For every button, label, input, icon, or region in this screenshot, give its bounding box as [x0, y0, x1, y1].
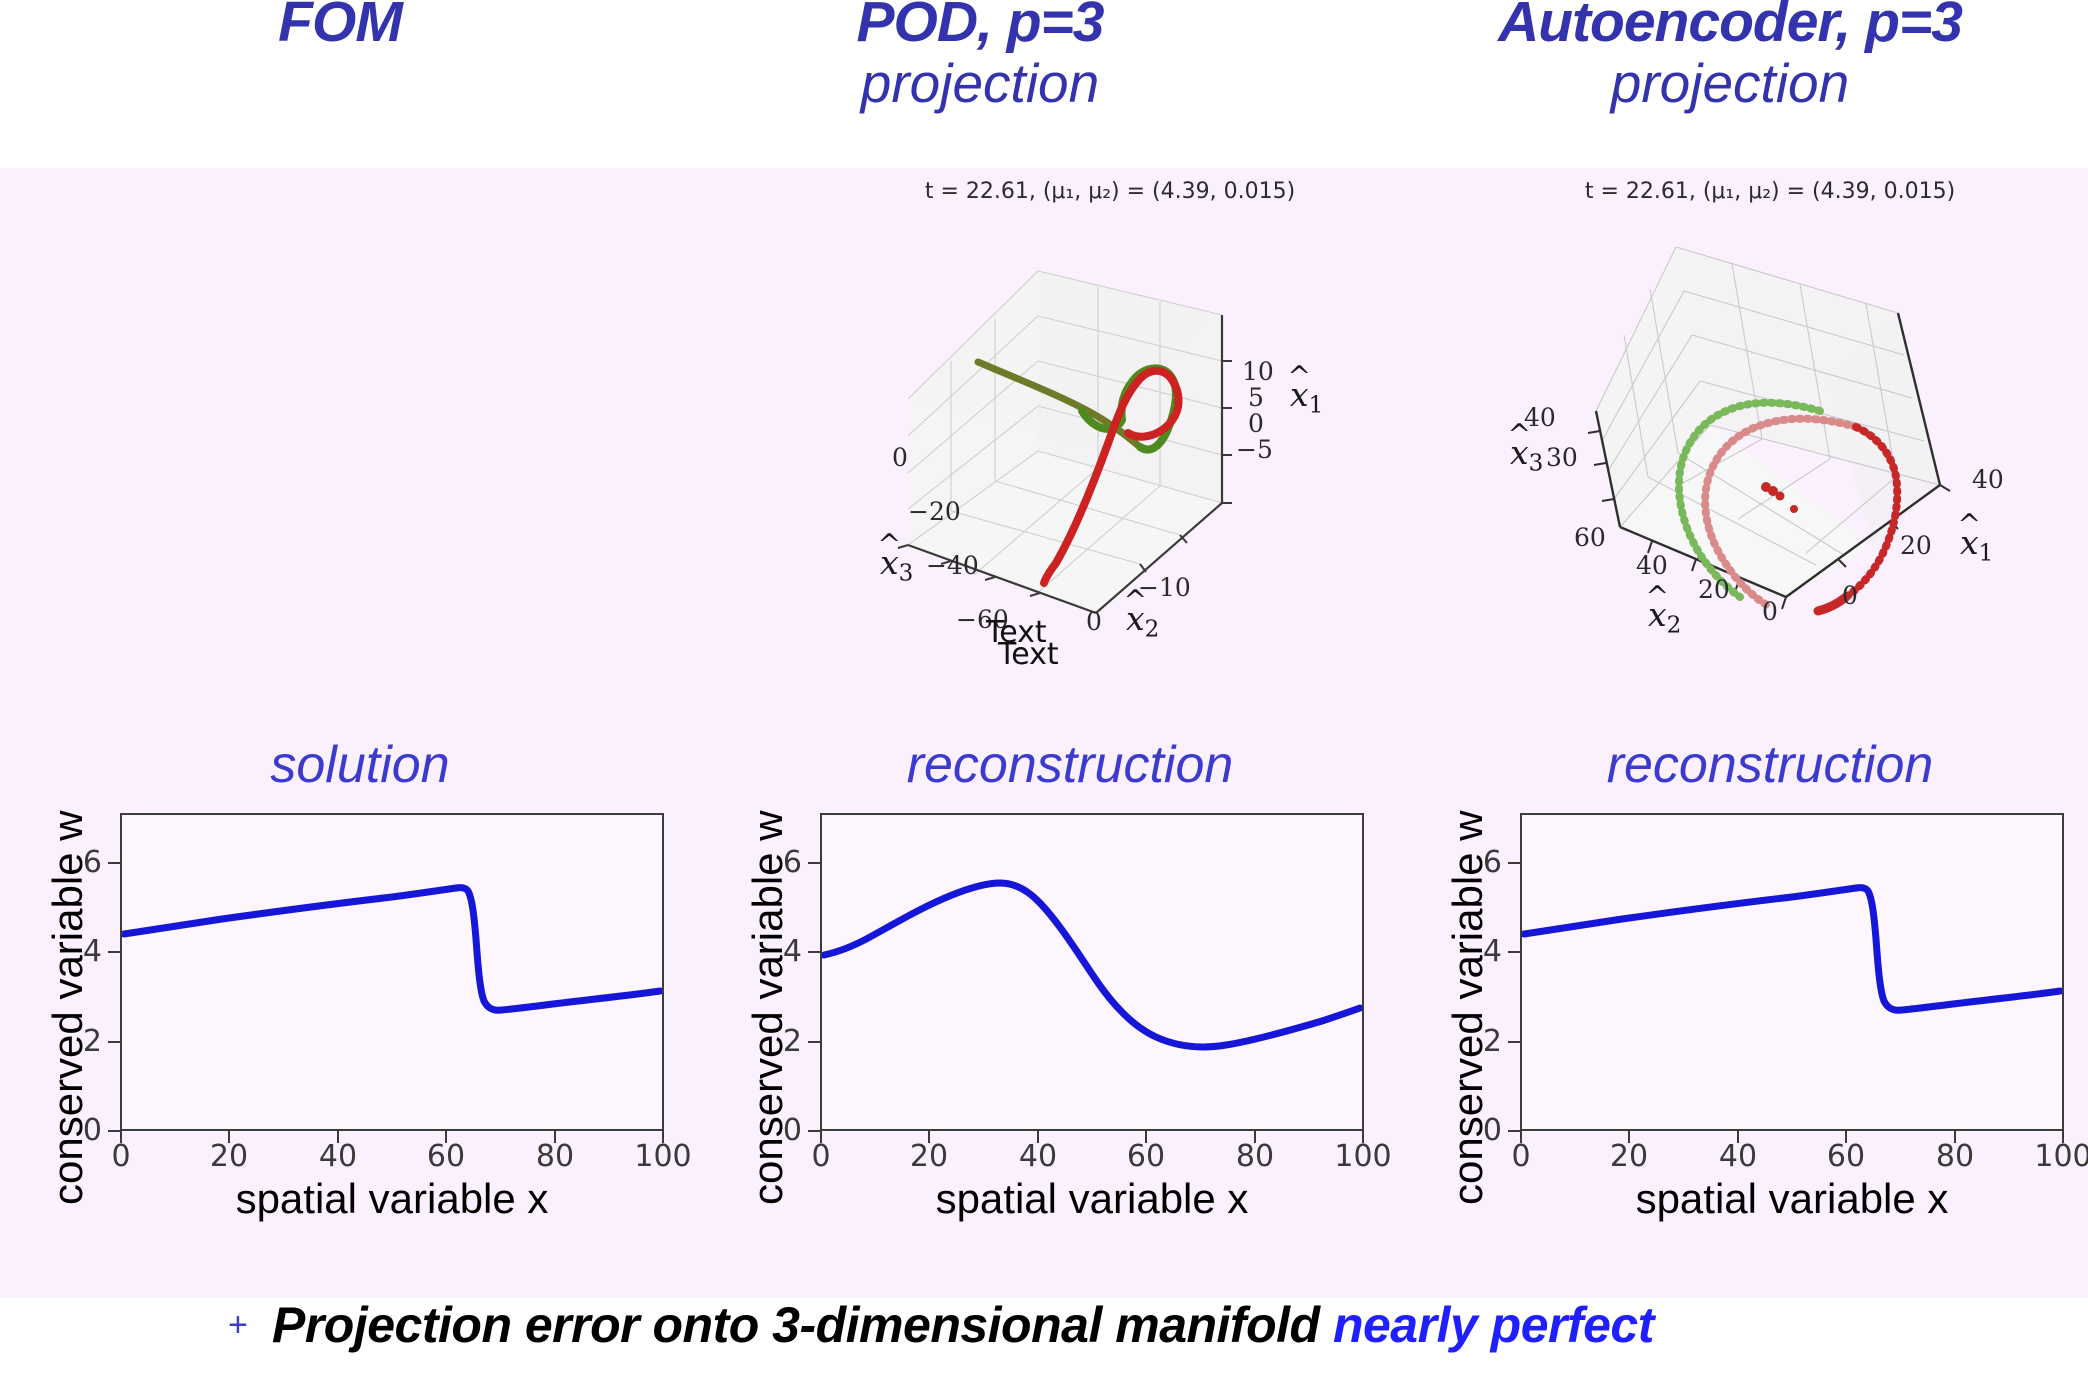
fom-plot-title: solution — [80, 735, 640, 795]
ae-xtick-3: 60 — [1815, 1139, 1877, 1174]
fom-xtickmark-1 — [228, 1131, 230, 1143]
pod-axis-label-z: x^3 — [880, 543, 913, 586]
ae-xtick-5: 100 — [2032, 1139, 2088, 1174]
ae-xtickmark-1 — [1628, 1131, 1630, 1143]
fom-xtickmark-0 — [120, 1131, 122, 1143]
autoencoder-plot-title: t = 22.61, (μ₁, μ₂) = (4.39, 0.015) — [1500, 179, 2040, 204]
ae-axis-label-x: x^2 — [1648, 595, 1681, 638]
pod-xtick-3: 60 — [1115, 1139, 1177, 1174]
ae-xtick-0: 0 — [1490, 1139, 1552, 1174]
pod-ytick-2: 4 — [740, 934, 802, 969]
pod-xtickmark-2 — [1037, 1131, 1039, 1143]
ae-xtick-1: 20 — [1598, 1139, 1660, 1174]
autoencoder-latent-space-plot: t = 22.61, (μ₁, μ₂) = (4.39, 0.015) — [1500, 175, 2060, 715]
fom-ytick-1: 2 — [40, 1024, 102, 1059]
pod-recon-title: reconstruction — [780, 735, 1360, 795]
pod-axis-label-x: x^2 — [1126, 599, 1159, 642]
ae-xlabel: spatial variable x — [1520, 1175, 2064, 1223]
fom-ytickmark-3 — [108, 862, 120, 864]
fom-ytickmark-1 — [108, 1041, 120, 1043]
ae-ytickmark-0 — [1508, 1130, 1520, 1132]
ae-recon-title: reconstruction — [1480, 735, 2060, 795]
pod-axis-label-y: x^1 — [1290, 375, 1323, 418]
pod-xtick-2: 40 — [1007, 1139, 1069, 1174]
ae-axes-box — [1520, 813, 2064, 1131]
pod-xtickmark-3 — [1145, 1131, 1147, 1143]
pod-ytickmark-3 — [808, 862, 820, 864]
fom-ytick-2: 4 — [40, 934, 102, 969]
fom-ytickmark-2 — [108, 951, 120, 953]
fom-ytickmark-0 — [108, 1130, 120, 1132]
pod-plot-title: t = 22.61, (μ₁, μ₂) = (4.39, 0.015) — [850, 179, 1370, 204]
column-header-fom-title: FOM — [278, 0, 402, 54]
pod-xtickmark-5 — [1362, 1131, 1364, 1143]
ae-tick-x-3: 0 — [1762, 597, 1778, 626]
pod-tick-z-0: 0 — [892, 443, 908, 472]
pod-tick-y-3: −5 — [1236, 435, 1273, 464]
ae-ytick-3: 6 — [1440, 845, 1502, 880]
autoencoder-reconstruction-plot: reconstruction conserved variable w 0 2 … — [1420, 735, 2080, 1235]
ae-ytickmark-2 — [1508, 951, 1520, 953]
footer-caption-plain: Projection error onto 3-dimensional mani… — [272, 1297, 1333, 1353]
ae-xtick-2: 40 — [1707, 1139, 1769, 1174]
footer-caption-highlight: nearly perfect — [1333, 1297, 1654, 1353]
ae-tick-x-0: 60 — [1574, 523, 1606, 552]
ae-curve — [1522, 815, 2062, 1129]
column-header-autoencoder-title: Autoencoder, p=3 — [1498, 0, 1962, 54]
pod-xtickmark-1 — [928, 1131, 930, 1143]
column-header-pod-subtitle: projection — [700, 52, 1260, 114]
pod-xtick-4: 80 — [1224, 1139, 1286, 1174]
column-header-autoencoder-subtitle: projection — [1380, 52, 2080, 114]
ae-tick-y-0: 40 — [1972, 465, 2004, 494]
fom-xtickmark-4 — [554, 1131, 556, 1143]
pod-tick-y-0: 10 — [1242, 357, 1274, 386]
fom-xtick-3: 60 — [415, 1139, 477, 1174]
ae-tick-x-2: 20 — [1698, 575, 1730, 604]
ae-xtickmark-4 — [1954, 1131, 1956, 1143]
ae-xtickmark-2 — [1737, 1131, 1739, 1143]
pod-xtickmark-0 — [820, 1131, 822, 1143]
ae-xtick-4: 80 — [1924, 1139, 1986, 1174]
fom-xtickmark-3 — [445, 1131, 447, 1143]
ae-ytick-1: 2 — [1440, 1024, 1502, 1059]
ae-xtickmark-3 — [1845, 1131, 1847, 1143]
pod-tick-y-2: 0 — [1248, 409, 1264, 438]
ae-xtickmark-0 — [1520, 1131, 1522, 1143]
pod-xtick-0: 0 — [790, 1139, 852, 1174]
pod-ytickmark-1 — [808, 1041, 820, 1043]
fom-axes-box — [120, 813, 664, 1131]
pod-tick-y-1: 5 — [1248, 383, 1264, 412]
pod-xtick-5: 100 — [1332, 1139, 1394, 1174]
ae-tick-x-1: 40 — [1636, 551, 1668, 580]
placeholder-text-2: Text — [998, 637, 1059, 672]
column-header-fom: FOM — [60, 0, 620, 52]
pod-curve — [822, 815, 1362, 1129]
pod-ytickmark-0 — [808, 1130, 820, 1132]
pod-xlabel: spatial variable x — [820, 1175, 1364, 1223]
fom-xtick-1: 20 — [198, 1139, 260, 1174]
column-header-pod: POD, p=3 projection — [700, 0, 1260, 114]
ae-ytickmark-3 — [1508, 862, 1520, 864]
pod-tick-z-2: −40 — [926, 551, 979, 580]
fom-xtick-2: 40 — [307, 1139, 369, 1174]
pod-ytickmark-2 — [808, 951, 820, 953]
pod-xtick-1: 20 — [898, 1139, 960, 1174]
footer-caption: Projection error onto 3-dimensional mani… — [272, 1296, 1654, 1354]
fom-xtickmark-2 — [337, 1131, 339, 1143]
fom-xtick-4: 80 — [524, 1139, 586, 1174]
ae-ytickmark-1 — [1508, 1041, 1520, 1043]
header-band: FOM POD, p=3 projection Autoencoder, p=3… — [0, 0, 2088, 168]
pod-3d-axes — [850, 215, 1370, 675]
ae-tick-y-2: 0 — [1842, 581, 1858, 610]
bullet-plus-icon: + — [228, 1306, 248, 1345]
column-header-pod-title: POD, p=3 — [857, 0, 1104, 54]
ae-tick-y-1: 20 — [1900, 531, 1932, 560]
fom-curve — [122, 815, 662, 1129]
pod-axes-box — [820, 813, 1364, 1131]
fom-xtick-0: 0 — [90, 1139, 152, 1174]
pod-xtickmark-4 — [1254, 1131, 1256, 1143]
slide-root: FOM POD, p=3 projection Autoencoder, p=3… — [0, 0, 2088, 1376]
fom-solution-plot: solution conserved variable w 0 2 4 6 0 … — [20, 735, 680, 1235]
ae-tick-z-1: 30 — [1546, 443, 1578, 472]
fom-xlabel: spatial variable x — [120, 1175, 664, 1223]
ae-xtickmark-5 — [2062, 1131, 2064, 1143]
pod-tick-x-1: 0 — [1086, 607, 1102, 636]
ae-ytick-2: 4 — [1440, 934, 1502, 969]
pod-tick-z-1: −20 — [908, 497, 961, 526]
fom-xtick-5: 100 — [632, 1139, 694, 1174]
fom-xtickmark-5 — [662, 1131, 664, 1143]
pod-ytick-1: 2 — [740, 1024, 802, 1059]
ae-axis-label-z: x^3 — [1510, 433, 1543, 476]
pod-reconstruction-plot: reconstruction conserved variable w 0 2 … — [720, 735, 1380, 1235]
pod-ytick-3: 6 — [740, 845, 802, 880]
pod-latent-space-plot: t = 22.61, (μ₁, μ₂) = (4.39, 0.015) — [850, 175, 1370, 695]
ae-axis-label-y: x^1 — [1960, 523, 1993, 566]
autoencoder-3d-axes — [1500, 215, 2060, 695]
fom-ytick-3: 6 — [40, 845, 102, 880]
column-header-autoencoder: Autoencoder, p=3 projection — [1380, 0, 2080, 114]
